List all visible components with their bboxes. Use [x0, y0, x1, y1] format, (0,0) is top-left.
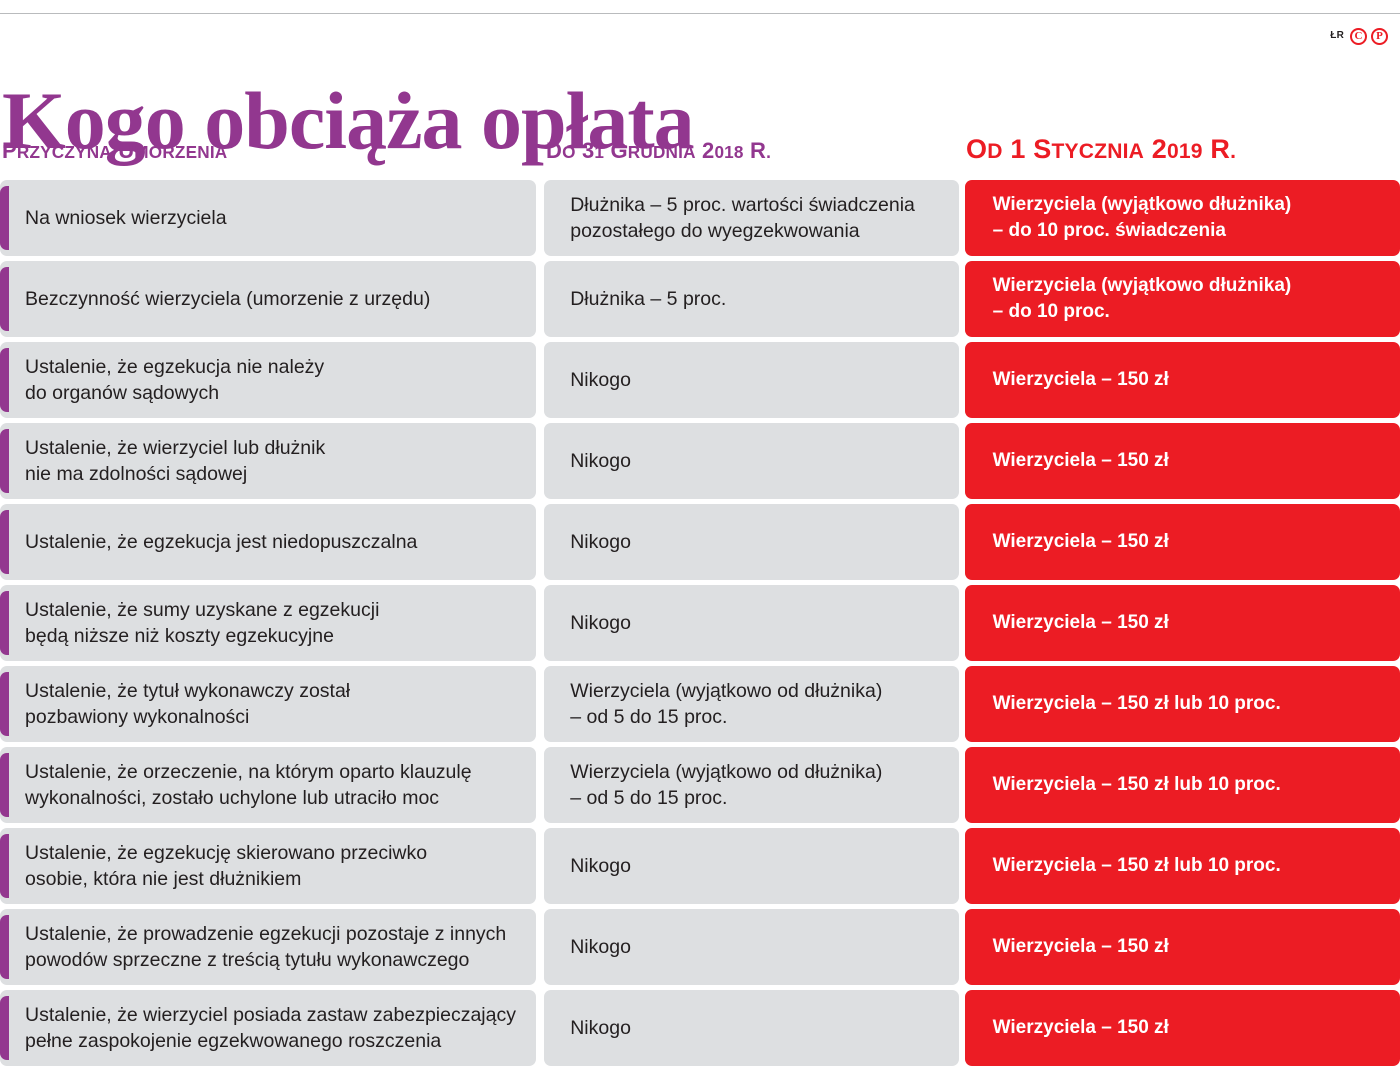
table-row: Ustalenie, że egzekucja jest niedopuszcz…: [0, 504, 1400, 580]
reason-cell: Ustalenie, że tytuł wykonawczy zostałpoz…: [0, 666, 536, 742]
reason-text: Ustalenie, że sumy uzyskane z egzekucjib…: [25, 597, 379, 649]
from-2019-cell: Wierzyciela (wyjątkowo dłużnika)– do 10 …: [965, 261, 1400, 337]
table-row: Ustalenie, że egzekucję skierowano przec…: [0, 828, 1400, 904]
before-2019-cell: Nikogo: [544, 504, 958, 580]
reason-text: Bezczynność wierzyciela (umorzenie z urz…: [25, 286, 430, 312]
from-2019-text: Wierzyciela – 150 zł: [993, 529, 1169, 555]
column-header-before-2019: DO 31 GRUDNIA 2018 R.: [546, 138, 771, 164]
row-accent-bar: [0, 510, 9, 574]
reason-cell: Ustalenie, że egzekucję skierowano przec…: [0, 828, 536, 904]
row-accent-bar: [0, 186, 9, 250]
reason-cell: Bezczynność wierzyciela (umorzenie z urz…: [0, 261, 536, 337]
row-accent-bar: [0, 591, 9, 655]
reason-text: Ustalenie, że wierzyciel posiada zastaw …: [25, 1002, 516, 1054]
before-2019-text: Nikogo: [570, 610, 631, 636]
table-row: Ustalenie, że wierzyciel posiada zastaw …: [0, 990, 1400, 1066]
from-2019-cell: Wierzyciela – 150 zł lub 10 proc.: [965, 666, 1400, 742]
table-row: Bezczynność wierzyciela (umorzenie z urz…: [0, 261, 1400, 337]
from-2019-cell: Wierzyciela – 150 zł lub 10 proc.: [965, 828, 1400, 904]
reason-cell: Ustalenie, że egzekucja nie należydo org…: [0, 342, 536, 418]
from-2019-cell: Wierzyciela – 150 zł: [965, 909, 1400, 985]
row-accent-bar: [0, 429, 9, 493]
top-divider: [0, 13, 1400, 14]
before-2019-cell: Nikogo: [544, 423, 958, 499]
table-row: Ustalenie, że wierzyciel lub dłużniknie …: [0, 423, 1400, 499]
from-2019-text: Wierzyciela – 150 zł lub 10 proc.: [993, 853, 1281, 879]
before-2019-text: Dłużnika – 5 proc. wartości świadczeniap…: [570, 192, 915, 244]
reason-text: Ustalenie, że tytuł wykonawczy zostałpoz…: [25, 678, 350, 730]
reason-text: Ustalenie, że orzeczenie, na którym opar…: [25, 759, 472, 811]
before-2019-cell: Nikogo: [544, 909, 958, 985]
row-accent-bar: [0, 753, 9, 817]
table-row: Ustalenie, że sumy uzyskane z egzekucjib…: [0, 585, 1400, 661]
table-row: Ustalenie, że orzeczenie, na którym opar…: [0, 747, 1400, 823]
from-2019-text: Wierzyciela – 150 zł: [993, 1015, 1169, 1041]
from-2019-text: Wierzyciela – 150 zł lub 10 proc.: [993, 691, 1281, 717]
row-accent-bar: [0, 996, 9, 1060]
reason-cell: Na wniosek wierzyciela: [0, 180, 536, 256]
from-2019-text: Wierzyciela – 150 zł: [993, 367, 1169, 393]
before-2019-cell: Wierzyciela (wyjątkowo od dłużnika)– od …: [544, 747, 958, 823]
from-2019-cell: Wierzyciela (wyjątkowo dłużnika)– do 10 …: [965, 180, 1400, 256]
from-2019-cell: Wierzyciela – 150 zł lub 10 proc.: [965, 747, 1400, 823]
before-2019-text: Nikogo: [570, 529, 631, 555]
from-2019-text: Wierzyciela (wyjątkowo dłużnika)– do 10 …: [993, 192, 1292, 244]
reason-cell: Ustalenie, że orzeczenie, na którym opar…: [0, 747, 536, 823]
reason-text: Ustalenie, że egzekucję skierowano przec…: [25, 840, 427, 892]
lr-label: ŁR: [1330, 31, 1346, 41]
before-2019-cell: Nikogo: [544, 990, 958, 1066]
before-2019-cell: Dłużnika – 5 proc.: [544, 261, 958, 337]
reason-cell: Ustalenie, że sumy uzyskane z egzekucjib…: [0, 585, 536, 661]
table-row: Na wniosek wierzycielaDłużnika – 5 proc.…: [0, 180, 1400, 256]
before-2019-cell: Nikogo: [544, 342, 958, 418]
from-2019-text: Wierzyciela – 150 zł: [993, 448, 1169, 474]
row-accent-bar: [0, 672, 9, 736]
before-2019-cell: Dłużnika – 5 proc. wartości świadczeniap…: [544, 180, 958, 256]
column-header-from-2019: OD 1 STYCZNIA 2019 R.: [966, 134, 1236, 165]
reason-cell: Ustalenie, że egzekucja jest niedopuszcz…: [0, 504, 536, 580]
reason-text: Ustalenie, że wierzyciel lub dłużniknie …: [25, 435, 325, 487]
reason-text: Ustalenie, że prowadzenie egzekucji pozo…: [25, 921, 506, 973]
row-accent-bar: [0, 834, 9, 898]
reason-cell: Ustalenie, że prowadzenie egzekucji pozo…: [0, 909, 536, 985]
before-2019-text: Wierzyciela (wyjątkowo od dłużnika)– od …: [570, 759, 882, 811]
from-2019-cell: Wierzyciela – 150 zł: [965, 342, 1400, 418]
from-2019-text: Wierzyciela – 150 zł: [993, 934, 1169, 960]
fee-table: Na wniosek wierzycielaDłużnika – 5 proc.…: [0, 180, 1400, 1071]
from-2019-cell: Wierzyciela – 150 zł: [965, 990, 1400, 1066]
before-2019-cell: Wierzyciela (wyjątkowo od dłużnika)– od …: [544, 666, 958, 742]
protected-icon: P: [1371, 28, 1388, 45]
before-2019-cell: Nikogo: [544, 585, 958, 661]
table-row: Ustalenie, że tytuł wykonawczy zostałpoz…: [0, 666, 1400, 742]
before-2019-text: Nikogo: [570, 367, 631, 393]
column-headers: PRZYCZYNA UMORZENIA DO 31 GRUDNIA 2018 R…: [0, 138, 1400, 174]
from-2019-cell: Wierzyciela – 150 zł: [965, 585, 1400, 661]
copyright-icon: C: [1350, 28, 1367, 45]
before-2019-text: Dłużnika – 5 proc.: [570, 286, 726, 312]
column-header-reason: PRZYCZYNA UMORZENIA: [2, 138, 227, 164]
row-accent-bar: [0, 348, 9, 412]
corporate-mark: ŁR C P: [1330, 26, 1388, 46]
before-2019-text: Wierzyciela (wyjątkowo od dłużnika)– od …: [570, 678, 882, 730]
reason-text: Ustalenie, że egzekucja jest niedopuszcz…: [25, 529, 417, 555]
table-row: Ustalenie, że egzekucja nie należydo org…: [0, 342, 1400, 418]
before-2019-cell: Nikogo: [544, 828, 958, 904]
from-2019-cell: Wierzyciela – 150 zł: [965, 423, 1400, 499]
from-2019-text: Wierzyciela – 150 zł lub 10 proc.: [993, 772, 1281, 798]
row-accent-bar: [0, 267, 9, 331]
before-2019-text: Nikogo: [570, 853, 631, 879]
from-2019-text: Wierzyciela (wyjątkowo dłużnika)– do 10 …: [993, 273, 1292, 325]
row-accent-bar: [0, 915, 9, 979]
reason-cell: Ustalenie, że wierzyciel posiada zastaw …: [0, 990, 536, 1066]
from-2019-text: Wierzyciela – 150 zł: [993, 610, 1169, 636]
before-2019-text: Nikogo: [570, 1015, 631, 1041]
before-2019-text: Nikogo: [570, 448, 631, 474]
table-row: Ustalenie, że prowadzenie egzekucji pozo…: [0, 909, 1400, 985]
reason-cell: Ustalenie, że wierzyciel lub dłużniknie …: [0, 423, 536, 499]
reason-text: Na wniosek wierzyciela: [25, 205, 227, 231]
reason-text: Ustalenie, że egzekucja nie należydo org…: [25, 354, 324, 406]
before-2019-text: Nikogo: [570, 934, 631, 960]
from-2019-cell: Wierzyciela – 150 zł: [965, 504, 1400, 580]
